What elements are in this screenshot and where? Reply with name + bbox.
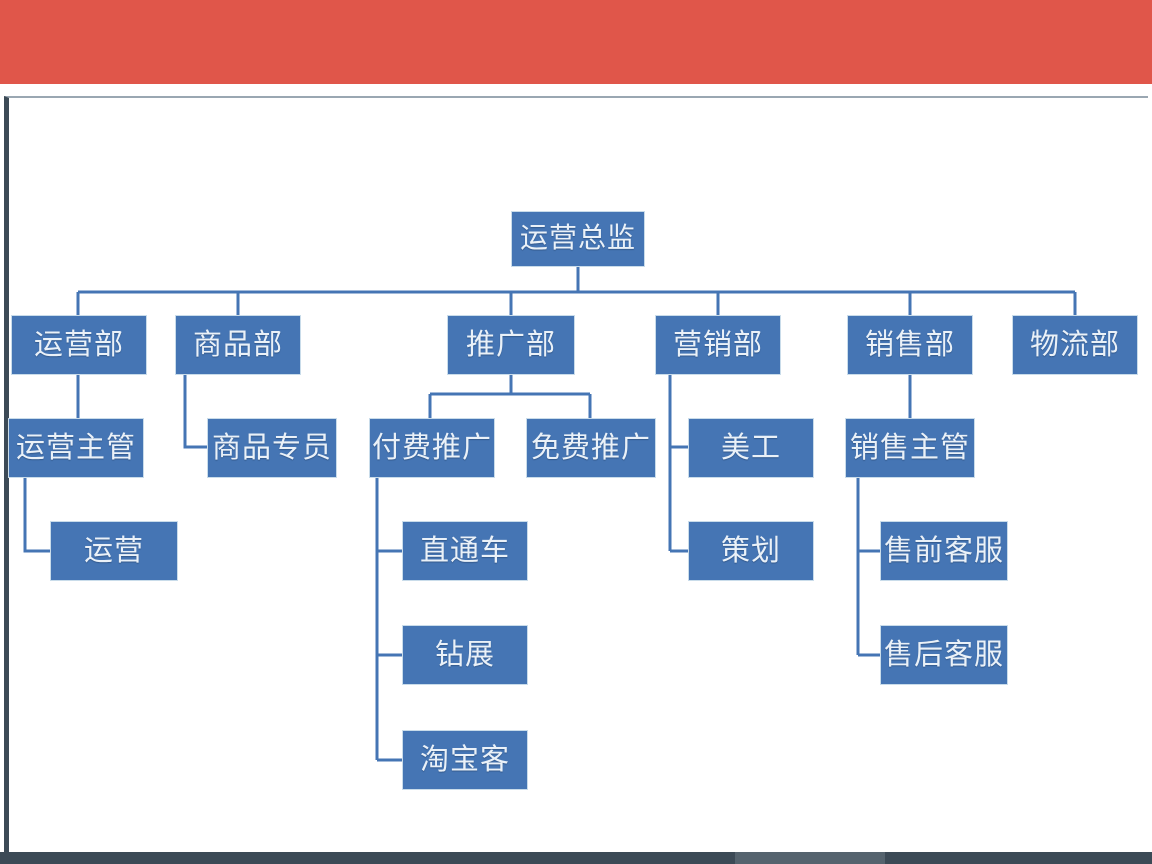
node-dept-product[interactable]: 商品部 bbox=[175, 315, 301, 375]
node-label: 售后客服 bbox=[884, 641, 1004, 670]
node-dept-logistics[interactable]: 物流部 bbox=[1012, 315, 1138, 375]
node-dept-promotion[interactable]: 推广部 bbox=[447, 315, 575, 375]
node-zhitongche[interactable]: 直通车 bbox=[402, 521, 528, 581]
node-label: 付费推广 bbox=[372, 434, 492, 463]
node-label: 营销部 bbox=[673, 331, 763, 360]
node-label: 物流部 bbox=[1030, 331, 1120, 360]
node-label: 钻展 bbox=[435, 641, 495, 670]
node-dept-sales[interactable]: 销售部 bbox=[847, 315, 973, 375]
node-label: 推广部 bbox=[466, 331, 556, 360]
node-aftersales-service[interactable]: 售后客服 bbox=[880, 625, 1008, 685]
node-label: 销售主管 bbox=[850, 434, 970, 463]
node-label: 淘宝客 bbox=[420, 746, 510, 775]
node-operations-supervisor[interactable]: 运营主管 bbox=[8, 418, 144, 478]
node-operations-staff[interactable]: 运营 bbox=[50, 521, 178, 581]
node-label: 商品部 bbox=[193, 331, 283, 360]
node-label: 运营总监 bbox=[520, 225, 636, 253]
node-designer[interactable]: 美工 bbox=[688, 418, 814, 478]
node-product-specialist[interactable]: 商品专员 bbox=[207, 418, 337, 478]
node-taobaoke[interactable]: 淘宝客 bbox=[402, 730, 528, 790]
node-dept-operations[interactable]: 运营部 bbox=[11, 315, 147, 375]
node-sales-supervisor[interactable]: 销售主管 bbox=[845, 418, 975, 478]
node-planner[interactable]: 策划 bbox=[688, 521, 814, 581]
node-free-promotion[interactable]: 免费推广 bbox=[526, 418, 656, 478]
node-label: 策划 bbox=[721, 537, 781, 566]
slide-canvas: 运营总监 运营部 商品部 推广部 营销部 销售部 物流部 运营主管 商品专员 付… bbox=[0, 0, 1152, 864]
node-paid-promotion[interactable]: 付费推广 bbox=[369, 418, 495, 478]
node-label: 直通车 bbox=[420, 537, 510, 566]
node-root-operations-director[interactable]: 运营总监 bbox=[511, 211, 645, 267]
node-label: 运营主管 bbox=[16, 434, 136, 463]
node-label: 美工 bbox=[721, 434, 781, 463]
node-label: 商品专员 bbox=[212, 434, 332, 463]
slide-bottom-bar-highlight bbox=[735, 852, 885, 864]
node-label: 运营部 bbox=[34, 331, 124, 360]
org-chart: 运营总监 运营部 商品部 推广部 营销部 销售部 物流部 运营主管 商品专员 付… bbox=[0, 0, 1152, 864]
node-dept-marketing[interactable]: 营销部 bbox=[655, 315, 781, 375]
node-label: 运营 bbox=[84, 537, 144, 566]
node-label: 销售部 bbox=[865, 331, 955, 360]
node-zuanzhan[interactable]: 钻展 bbox=[402, 625, 528, 685]
node-label: 免费推广 bbox=[531, 434, 651, 463]
node-label: 售前客服 bbox=[884, 537, 1004, 566]
node-presales-service[interactable]: 售前客服 bbox=[880, 521, 1008, 581]
slide-bottom-bar bbox=[0, 852, 1152, 864]
